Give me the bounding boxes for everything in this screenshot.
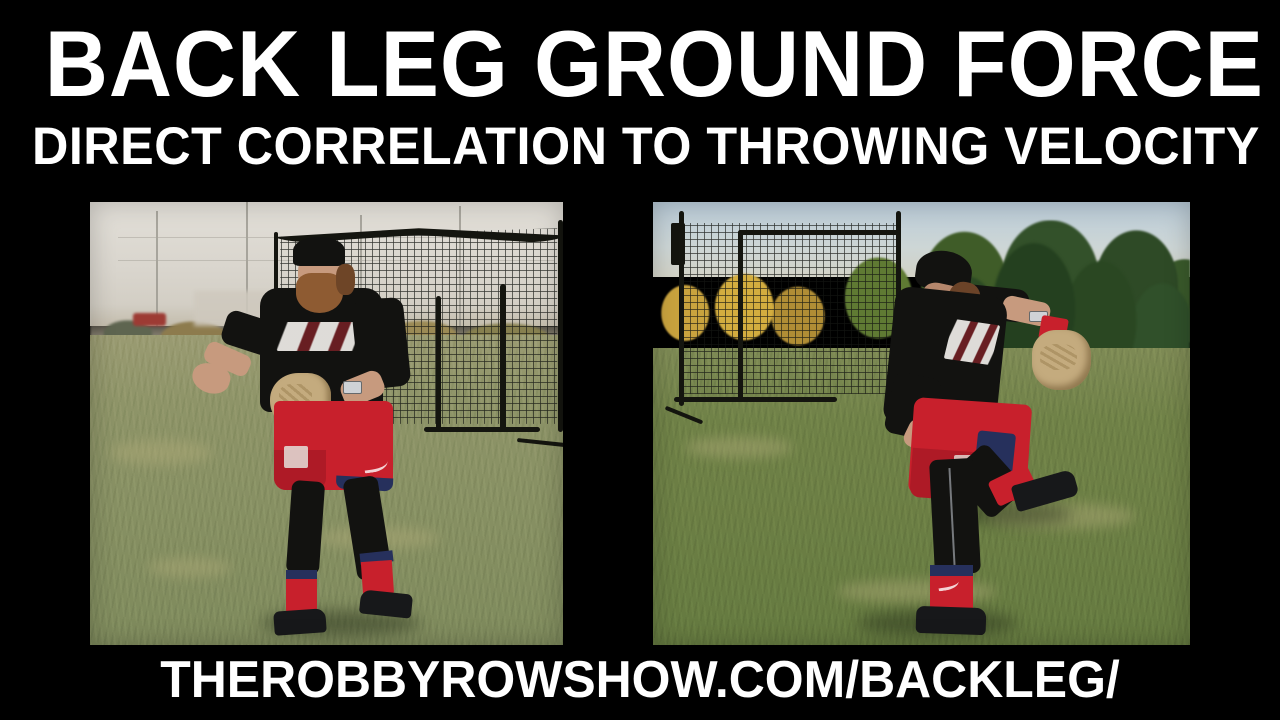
player-beanie bbox=[293, 237, 345, 266]
video-thumbnail: BACK LEG GROUND FORCE DIRECT CORRELATION… bbox=[0, 0, 1280, 720]
player-left-leg bbox=[285, 480, 325, 575]
photo-left bbox=[90, 202, 563, 645]
glove-webbing bbox=[1040, 344, 1078, 371]
player-hair bbox=[336, 264, 355, 295]
title-block: BACK LEG GROUND FORCE DIRECT CORRELATION… bbox=[0, 0, 1280, 176]
shorts-patch bbox=[284, 446, 308, 468]
player-figure bbox=[90, 202, 563, 645]
player-front-cleat bbox=[916, 606, 987, 635]
player-left-cleat bbox=[274, 608, 328, 636]
shirt-logo bbox=[277, 322, 362, 351]
player-figure bbox=[653, 202, 1190, 645]
scene-left bbox=[90, 202, 563, 645]
sock-band bbox=[930, 565, 973, 577]
url-bar: THEROBBYROWSHOW.COM/BACKLEG/ bbox=[0, 652, 1280, 708]
photo-right bbox=[653, 202, 1190, 645]
page-title: BACK LEG GROUND FORCE bbox=[45, 0, 1235, 116]
scene-right bbox=[653, 202, 1190, 645]
player-right-cleat bbox=[358, 589, 412, 619]
page-subtitle: DIRECT CORRELATION TO THROWING VELOCITY bbox=[32, 118, 1248, 176]
website-url[interactable]: THEROBBYROWSHOW.COM/BACKLEG/ bbox=[26, 652, 1255, 708]
wristwatch bbox=[343, 381, 362, 393]
